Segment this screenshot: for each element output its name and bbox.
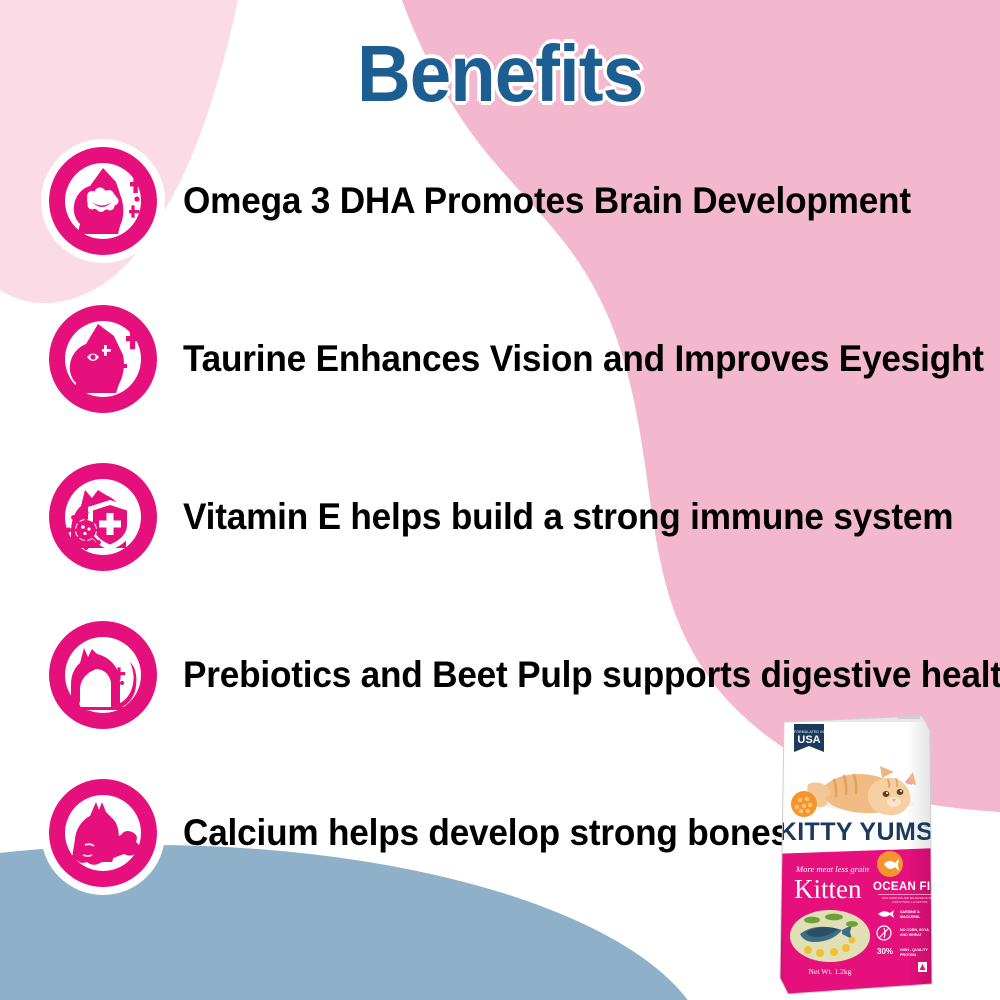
feature-3-line1: HIGH - QUALITY (900, 948, 929, 952)
registered-mark: ® (924, 822, 928, 829)
benefit-text: Taurine Enhances Vision and Improves Eye… (183, 340, 984, 379)
tagline-script: More meat less grain (795, 864, 869, 874)
page-title: Benefits (35, 34, 965, 114)
feature-2-line2: AND WHEAT (900, 933, 922, 937)
benefit-text: Vitamin E helps build a strong immune sy… (183, 498, 953, 537)
benefit-text: Prebiotics and Beet Pulp supports digest… (183, 656, 1000, 695)
cat-eye-vision-icon (40, 296, 166, 422)
net-weight: Net Wt. 1.2kg (809, 967, 852, 976)
cat-digestive-icon (40, 612, 166, 738)
protein-percent: 30% (877, 947, 893, 956)
brand-name: KITTY YUMS (779, 818, 934, 846)
feature-2-line1: NO CORN, SOYA (900, 928, 929, 932)
feature-3-line2: PROTEIN (900, 953, 916, 957)
product-package-image: FORMULATED IN USA (772, 712, 940, 1000)
feature-1-line1: SARDINE & (900, 910, 920, 914)
flavour-subline: 100% COMPLETE AND BALANCED NUTRITION (881, 896, 938, 900)
flavour-subline-2: FOR KITTENS 1-12 MONTHS (892, 900, 927, 904)
cat-immune-shield-icon (40, 454, 166, 580)
benefit-text: Calcium helps develop strong bones (183, 814, 790, 853)
food-photo (790, 910, 870, 962)
benefits-infographic: Benefits (0, 0, 1000, 1000)
flavour-name: OCEAN FISH (873, 881, 940, 893)
benefit-row: Omega 3 DHA Promotes Brain Development (40, 138, 990, 264)
usa-badge-country: USA (797, 734, 820, 746)
feature-1-line2: MACKEREL (900, 915, 921, 919)
cat-brain-icon (40, 138, 166, 264)
benefit-row: Taurine Enhances Vision and Improves Eye… (40, 296, 990, 422)
cat-bone-icon (40, 770, 166, 896)
benefit-text: Omega 3 DHA Promotes Brain Development (183, 182, 911, 221)
life-stage: Kitten (794, 874, 862, 904)
benefit-row: Vitamin E helps build a strong immune sy… (40, 454, 990, 580)
